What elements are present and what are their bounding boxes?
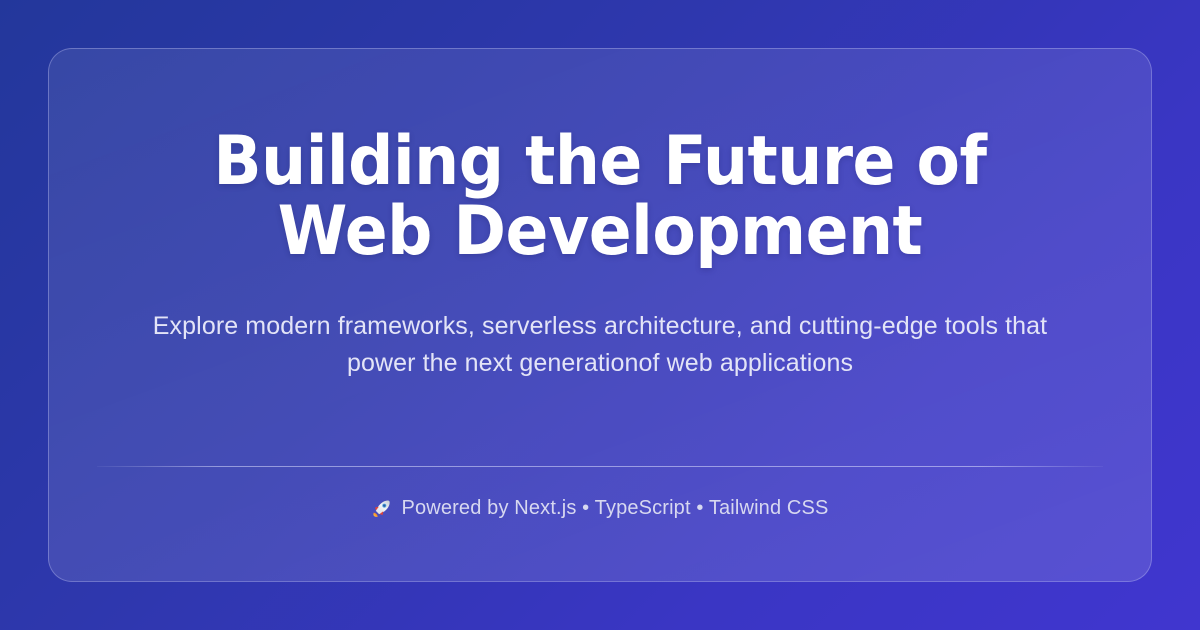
rocket-emoji <box>371 498 392 519</box>
footer: Powered by Next.js • TypeScript • Tailwi… <box>97 497 1103 520</box>
page-subtitle: Explore modern frameworks, serverless ar… <box>139 308 1061 382</box>
footer-text: Powered by Next.js • TypeScript • Tailwi… <box>401 497 828 520</box>
page-title: Building the Future of Web Development <box>132 127 1068 267</box>
og-image-root: Building the Future of Web Development E… <box>0 0 1200 630</box>
card-inner: Building the Future of Web Development E… <box>49 49 1151 581</box>
content-card: Building the Future of Web Development E… <box>48 48 1152 582</box>
divider <box>97 466 1103 467</box>
